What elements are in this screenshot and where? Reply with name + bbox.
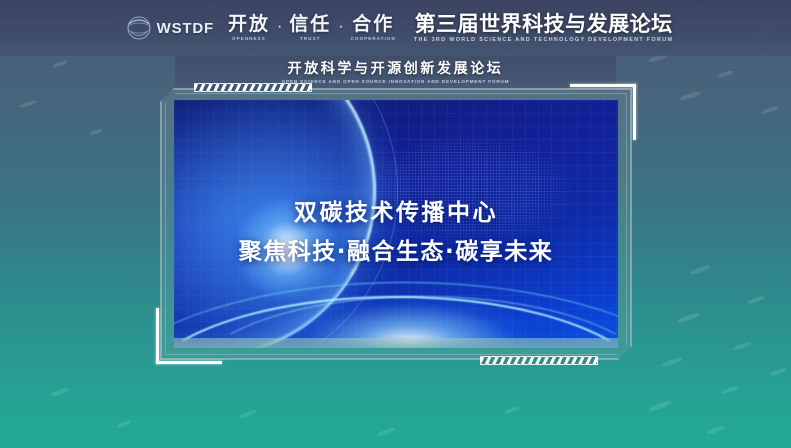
slogan-trust: 信任 TRUST xyxy=(289,15,331,42)
slogan-openness: 开放 OPENNESS xyxy=(228,15,270,42)
striped-accent-bar-top-left xyxy=(194,83,312,92)
slogan-separator: · xyxy=(277,15,282,38)
slogan-cooperation: 合作 COOPERATION xyxy=(351,15,396,42)
screen-display: 双碳技术传播中心 聚焦科技·融合生态·碳享未来 xyxy=(174,100,618,348)
header-banner: WSTDF 开放 OPENNESS · 信任 TRUST · 合作 COOPER… xyxy=(0,0,791,56)
slogan-en: COOPERATION xyxy=(351,36,396,41)
screen-subtitle: 聚焦科技·融合生态·碳享未来 xyxy=(174,238,618,267)
slogan-cn: 合作 xyxy=(351,15,396,35)
presentation-slide: WSTDF 开放 OPENNESS · 信任 TRUST · 合作 COOPER… xyxy=(0,0,791,448)
wstdf-globe-logo-icon xyxy=(126,15,152,41)
sub-banner-en: OPEN SCIENCE AND OPEN SOURCE INNOVATION … xyxy=(282,79,510,84)
striped-accent-bar-bottom-right xyxy=(480,356,598,365)
display-screen-frame: 双碳技术传播中心 聚焦科技·融合生态·碳享未来 xyxy=(160,88,632,360)
screen-text-block: 双碳技术传播中心 聚焦科技·融合生态·碳享未来 xyxy=(174,199,618,267)
screen-title: 双碳技术传播中心 xyxy=(174,199,618,228)
slogan-en: OPENNESS xyxy=(228,36,270,41)
main-title-en: THE 3RD WORLD SCIENCE AND TECHNOLOGY DEV… xyxy=(414,37,673,43)
sub-banner-cn: 开放科学与开源创新发展论坛 xyxy=(288,62,504,77)
forum-logo: WSTDF xyxy=(126,15,214,41)
main-title-cn: 第三届世界科技与发展论坛 xyxy=(414,13,673,36)
screen-base-strip xyxy=(174,338,618,348)
slogan-group: 开放 OPENNESS · 信任 TRUST · 合作 COOPERATION xyxy=(228,15,396,42)
slogan-cn: 信任 xyxy=(289,15,331,35)
slogan-cn: 开放 xyxy=(228,15,270,35)
slogan-separator: · xyxy=(338,15,343,38)
slogan-en: TRUST xyxy=(289,36,331,41)
forum-main-title: 第三届世界科技与发展论坛 THE 3RD WORLD SCIENCE AND T… xyxy=(414,13,673,44)
logo-text: WSTDF xyxy=(157,20,214,37)
